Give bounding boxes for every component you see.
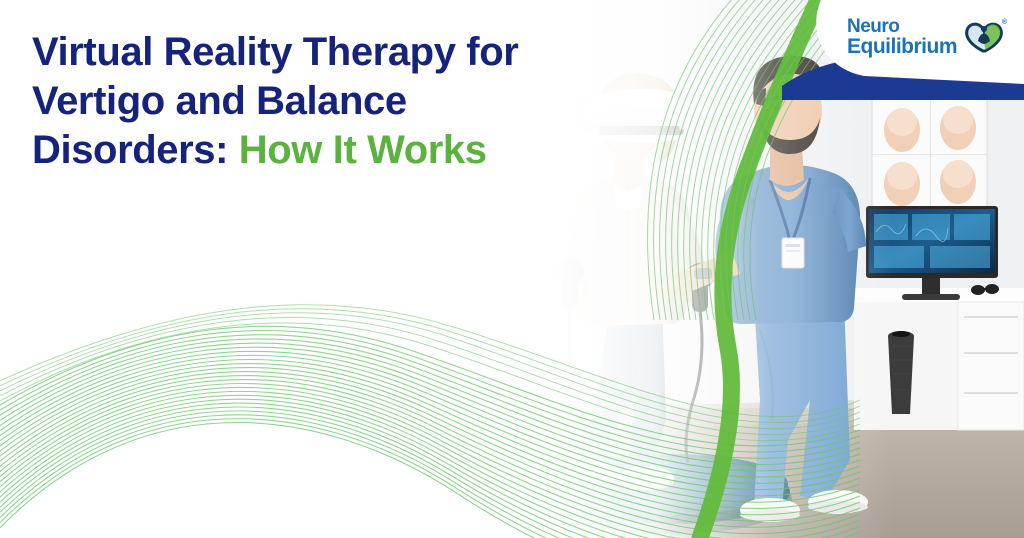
banner-root: Neuro Equilibrium ® Virtual Reality Ther… <box>0 0 1024 538</box>
neuro-equilibrium-mark-icon: ® <box>963 20 1005 54</box>
logo-wordmark: Neuro Equilibrium <box>847 17 957 57</box>
logo-word-bottom: Equilibrium <box>847 36 957 57</box>
headline-line-3-prefix: Disorders: <box>32 128 228 172</box>
headline-line-1: Virtual Reality Therapy for <box>32 30 518 74</box>
logo-word-top: Neuro <box>847 17 957 36</box>
headline-line-2: Vertigo and Balance <box>32 79 407 123</box>
registered-trademark-symbol: ® <box>1002 19 1007 26</box>
brand-logo[interactable]: Neuro Equilibrium ® <box>836 0 1016 74</box>
headline-line-3-accent: How It Works <box>239 128 487 172</box>
page-title: Virtual Reality Therapy for Vertigo and … <box>32 28 632 174</box>
